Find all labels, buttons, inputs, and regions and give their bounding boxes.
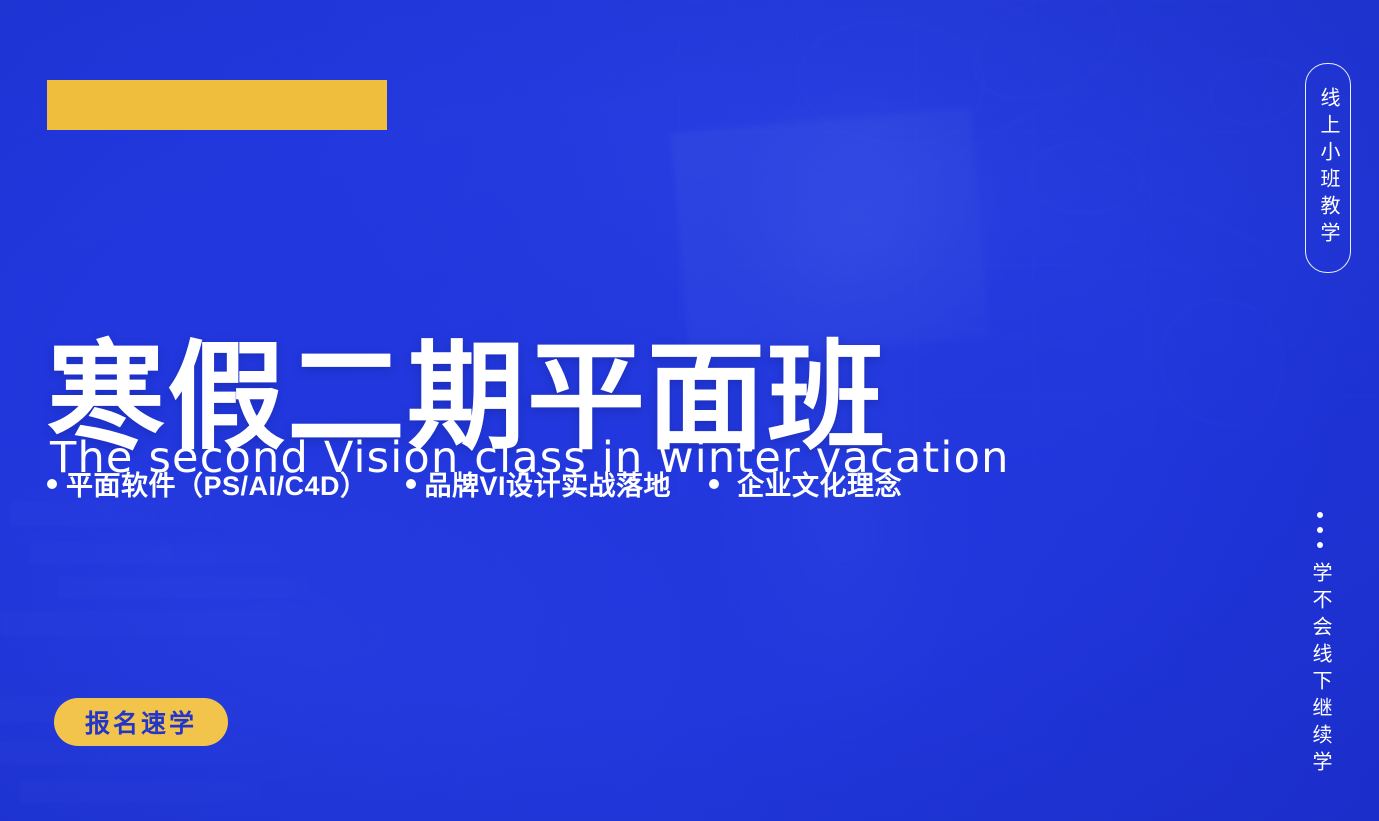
- bullet-dot-icon: [47, 479, 57, 489]
- feature-item-culture: 企业文化理念: [709, 464, 902, 503]
- bullet-dot-icon: [709, 479, 719, 489]
- guarantee-slogan: 学不会线下继续学: [1310, 512, 1330, 778]
- bullet-dot-icon: [406, 479, 416, 489]
- side-slogan-label: 学不会线下继续学: [1310, 562, 1330, 778]
- feature-label: 品牌VI设计实战落地: [425, 464, 672, 503]
- feature-item-brand-vi: 品牌VI设计实战落地: [406, 464, 672, 503]
- accent-bar: [47, 80, 387, 130]
- side-badge-label: 线上小班教学: [1318, 87, 1338, 249]
- feature-list: 平面软件（PS/AI/C4D） 品牌VI设计实战落地 企业文化理念: [47, 464, 902, 503]
- enroll-button[interactable]: 报名速学: [54, 698, 228, 746]
- online-small-class-badge: 线上小班教学: [1305, 63, 1351, 273]
- feature-item-software: 平面软件（PS/AI/C4D）: [47, 464, 368, 503]
- course-poster: 寒假二期平面班 The second Vision class in winte…: [0, 0, 1379, 821]
- three-dots-icon: [1317, 512, 1323, 548]
- feature-label: 平面软件（PS/AI/C4D）: [66, 464, 368, 503]
- feature-label: 企业文化理念: [737, 464, 902, 503]
